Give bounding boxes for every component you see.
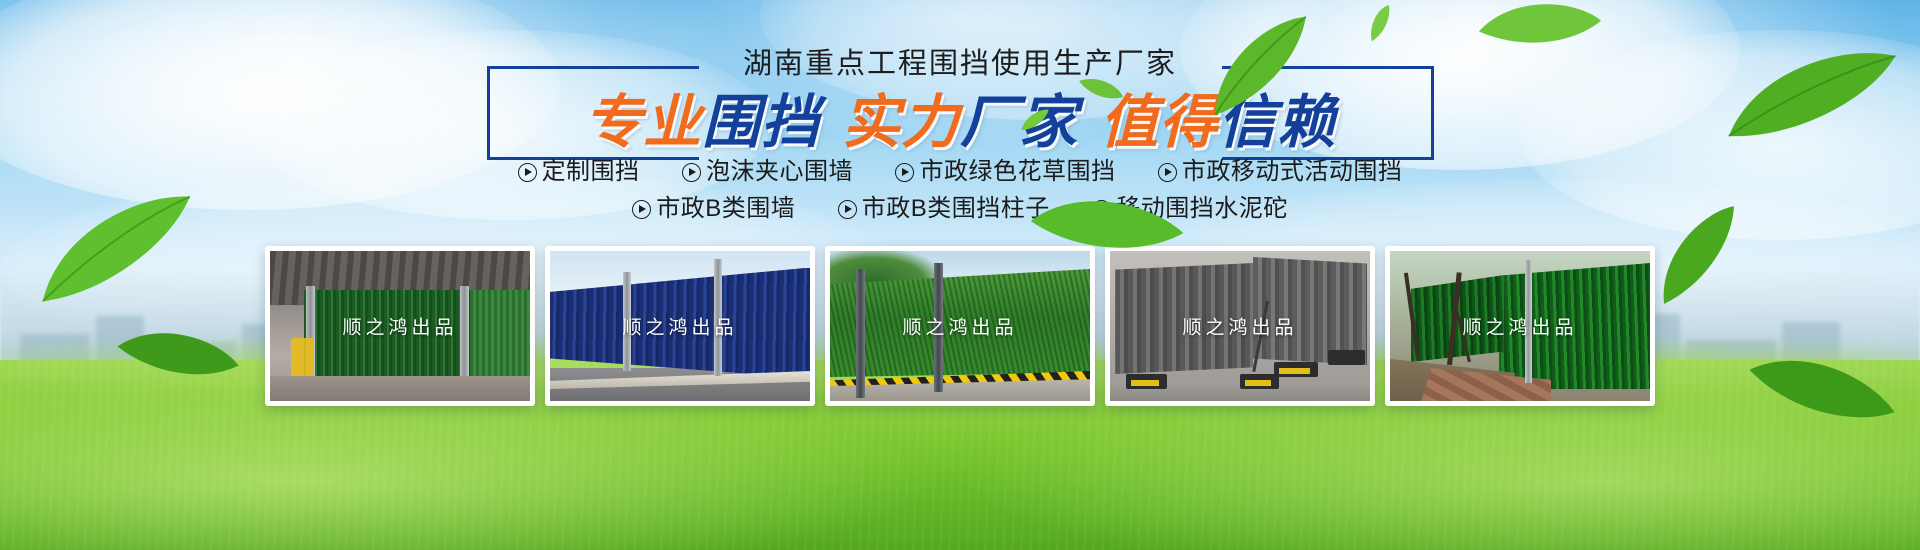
- promo-banner: 湖南重点工程围挡使用生产厂家 专业围挡实力厂家值得信赖 定制围挡 泡沫夹心围墙 …: [0, 0, 1920, 550]
- feature-row-1: 定制围挡 泡沫夹心围墙 市政绿色花草围挡 市政移动式活动围挡: [0, 160, 1920, 184]
- product-photo-1[interactable]: 顺之鸿出品: [265, 246, 535, 406]
- play-icon: [1158, 163, 1177, 182]
- feature-label: 市政B类围墙: [656, 195, 795, 222]
- feature-item[interactable]: 泡沫夹心围墙: [682, 160, 853, 184]
- feature-row-2: 市政B类围墙 市政B类围挡柱子 移动围挡水泥砣: [0, 197, 1920, 221]
- feature-label: 市政绿色花草围挡: [919, 158, 1115, 185]
- feature-item[interactable]: 市政B类围挡柱子: [838, 197, 1050, 221]
- feature-item[interactable]: 移动围挡水泥砣: [1092, 197, 1288, 221]
- play-icon: [1092, 200, 1111, 219]
- feature-label: 移动围挡水泥砣: [1116, 195, 1288, 222]
- photo-watermark: 顺之鸿出品: [830, 313, 1090, 340]
- photo-watermark: 顺之鸿出品: [550, 313, 810, 340]
- product-photo-3[interactable]: 顺之鸿出品: [825, 246, 1095, 406]
- play-icon: [632, 200, 651, 219]
- headline-segment-5: 值得: [1100, 94, 1218, 152]
- feature-item[interactable]: 市政B类围墙: [632, 197, 795, 221]
- feature-item[interactable]: 定制围挡: [518, 160, 640, 184]
- photo-watermark: 顺之鸿出品: [1390, 313, 1650, 340]
- feature-item[interactable]: 市政移动式活动围挡: [1158, 160, 1403, 184]
- headline-segment-4: 厂家: [960, 94, 1078, 152]
- play-icon: [895, 163, 914, 182]
- headline-segment-6: 信赖: [1218, 94, 1336, 152]
- product-photo-4[interactable]: 顺之鸿出品: [1105, 246, 1375, 406]
- feature-item[interactable]: 市政绿色花草围挡: [895, 160, 1115, 184]
- headline-segment-1: 专业: [584, 94, 702, 152]
- play-icon: [682, 163, 701, 182]
- photo-strip: 顺之鸿出品 顺之鸿出品: [0, 246, 1920, 478]
- photo-watermark: 顺之鸿出品: [1110, 313, 1370, 340]
- play-icon: [838, 200, 857, 219]
- feature-label: 市政移动式活动围挡: [1182, 158, 1403, 185]
- banner-subtitle: 湖南重点工程围挡使用生产厂家: [0, 50, 1920, 79]
- feature-list: 定制围挡 泡沫夹心围墙 市政绿色花草围挡 市政移动式活动围挡 市政B类围墙 市政…: [0, 160, 1920, 234]
- feature-label: 定制围挡: [542, 158, 640, 185]
- feature-label: 泡沫夹心围墙: [706, 158, 853, 185]
- banner-headline: 专业围挡实力厂家值得信赖: [0, 94, 1920, 152]
- product-photo-2[interactable]: 顺之鸿出品: [545, 246, 815, 406]
- photo-watermark: 顺之鸿出品: [270, 313, 530, 340]
- play-icon: [518, 163, 537, 182]
- product-photo-5[interactable]: 顺之鸿出品: [1385, 246, 1655, 406]
- headline-segment-2: 围挡: [702, 94, 820, 152]
- feature-label: 市政B类围挡柱子: [862, 195, 1050, 222]
- headline-segment-3: 实力: [842, 94, 960, 152]
